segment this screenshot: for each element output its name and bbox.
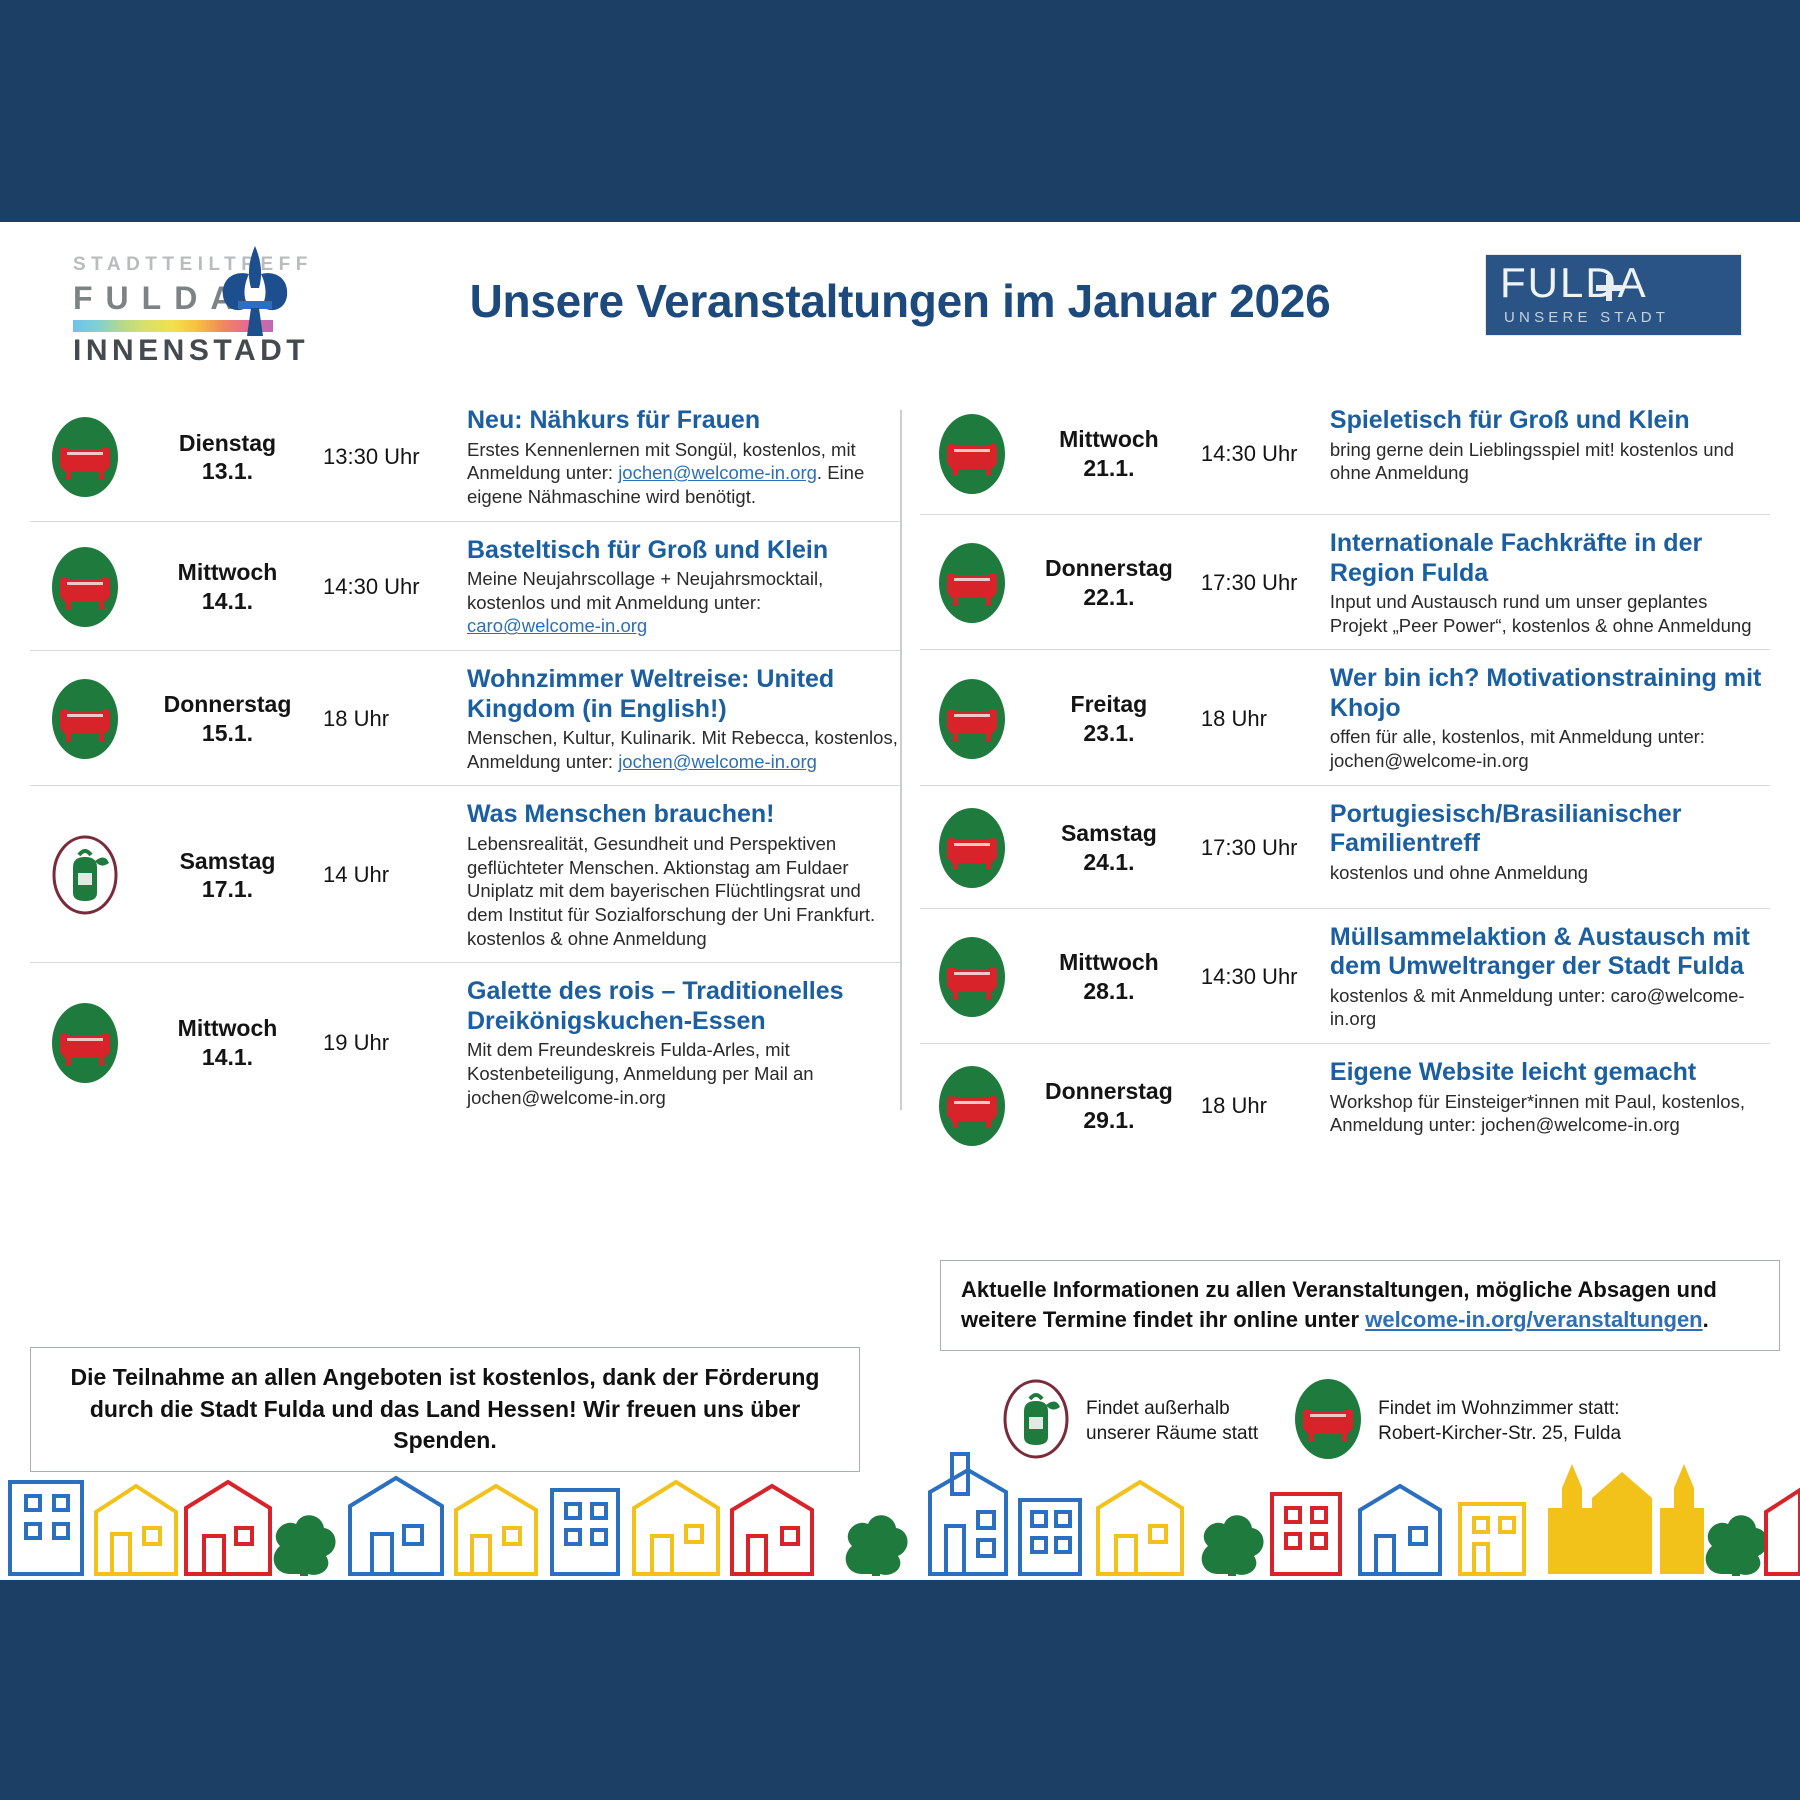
event-time: 13:30 Uhr <box>315 444 463 470</box>
event-title: Portugiesisch/Brasilianischer Familientr… <box>1330 800 1770 859</box>
event-title: Was Menschen brauchen! <box>467 800 900 830</box>
event-date: 29.1. <box>1083 1107 1134 1133</box>
event-title: Galette des rois – Traditionelles Dreikö… <box>467 977 900 1036</box>
bottom-band <box>0 1580 1800 1800</box>
event-day: Donnerstag29.1. <box>1025 1077 1193 1135</box>
event-date: 15.1. <box>202 720 253 746</box>
event-row: Mittwoch28.1.14:30 UhrMüllsammelaktion &… <box>920 909 1770 1044</box>
poster: STADTTEILTREFF FULDA INNENSTADT Unsere V… <box>0 222 1800 1580</box>
event-row: Donnerstag15.1.18 UhrWohnzimmer Weltreis… <box>30 651 900 786</box>
event-location-icon <box>920 935 1025 1019</box>
event-date: 23.1. <box>1083 720 1134 746</box>
event-weekday: Mittwoch <box>1059 426 1159 452</box>
event-body: Neu: Nähkurs für FrauenErstes Kennenlern… <box>463 406 900 509</box>
event-location-icon <box>30 833 140 917</box>
event-description: Mit dem Freundeskreis Fulda-Arles, mit K… <box>467 1038 900 1109</box>
skyline-illustration <box>0 1450 1800 1580</box>
event-row: Dienstag13.1.13:30 UhrNeu: Nähkurs für F… <box>30 392 900 522</box>
legend-line-2: unserer Räume statt <box>1086 1423 1258 1444</box>
sofa-icon <box>936 541 1008 625</box>
outside-icon <box>49 833 121 917</box>
event-location-icon <box>920 677 1025 761</box>
event-description: Input und Austausch rund um unser geplan… <box>1330 590 1770 637</box>
event-title: Basteltisch für Groß und Klein <box>467 536 900 566</box>
event-description: Menschen, Kultur, Kulinarik. Mit Rebecca… <box>467 726 900 773</box>
event-row: Donnerstag29.1.18 UhrEigene Website leic… <box>920 1044 1770 1166</box>
event-row: Samstag24.1.17:30 UhrPortugiesisch/Brasi… <box>920 786 1770 909</box>
events-column-left: Dienstag13.1.13:30 UhrNeu: Nähkurs für F… <box>30 392 900 1166</box>
event-day: Donnerstag22.1. <box>1025 554 1193 612</box>
poster-header: STADTTEILTREFF FULDA INNENSTADT Unsere V… <box>0 222 1800 392</box>
sofa-icon <box>936 412 1008 496</box>
event-weekday: Mittwoch <box>178 1015 278 1041</box>
sofa-icon <box>49 677 121 761</box>
event-email-link[interactable]: jochen@welcome-in.org <box>618 462 817 483</box>
event-email-link[interactable]: jochen@welcome-in.org <box>618 751 817 772</box>
event-row: Mittwoch14.1.19 UhrGalette des rois – Tr… <box>30 963 900 1121</box>
event-location-icon <box>920 806 1025 890</box>
event-body: Wohnzimmer Weltreise: United Kingdom (in… <box>463 665 900 773</box>
event-title: Wohnzimmer Weltreise: United Kingdom (in… <box>467 665 900 724</box>
event-row: Mittwoch14.1.14:30 UhrBasteltisch für Gr… <box>30 522 900 652</box>
event-title: Müllsammelaktion & Austausch mit dem Umw… <box>1330 923 1770 982</box>
online-info-post: . <box>1703 1307 1709 1332</box>
event-title: Internationale Fachkräfte in der Region … <box>1330 529 1770 588</box>
event-description: kostenlos & mit Anmeldung unter: caro@we… <box>1330 984 1770 1031</box>
event-date: 14.1. <box>202 588 253 614</box>
event-body: Wer bin ich? Motivationstraining mit Kho… <box>1326 664 1770 772</box>
event-title: Neu: Nähkurs für Frauen <box>467 406 900 436</box>
event-time: 14:30 Uhr <box>1193 964 1326 990</box>
sofa-icon <box>936 1064 1008 1148</box>
events-column-right: Mittwoch21.1.14:30 UhrSpieletisch für Gr… <box>920 392 1770 1166</box>
fulda-cross-icon <box>1596 275 1622 301</box>
event-body: Galette des rois – Traditionelles Dreikö… <box>463 977 900 1109</box>
event-title: Eigene Website leicht gemacht <box>1330 1058 1770 1088</box>
event-time: 14 Uhr <box>315 862 463 888</box>
fulda-tagline: UNSERE STADT <box>1504 309 1669 326</box>
event-time: 18 Uhr <box>315 706 463 732</box>
event-row: Donnerstag22.1.17:30 UhrInternationale F… <box>920 515 1770 650</box>
event-day: Mittwoch28.1. <box>1025 948 1193 1006</box>
sofa-icon <box>49 1001 121 1085</box>
event-description: bring gerne dein Lieblingsspiel mit! kos… <box>1330 438 1770 485</box>
event-date: 14.1. <box>202 1044 253 1070</box>
event-body: Basteltisch für Groß und KleinMeine Neuj… <box>463 536 900 639</box>
legend-line-1: Findet im Wohnzimmer statt: <box>1378 1398 1619 1419</box>
event-date: 24.1. <box>1083 849 1134 875</box>
event-body: Internationale Fachkräfte in der Region … <box>1326 529 1770 637</box>
event-day: Dienstag13.1. <box>140 429 315 487</box>
event-description: offen für alle, kostenlos, mit Anmeldung… <box>1330 725 1770 772</box>
sofa-icon <box>1292 1377 1364 1461</box>
sofa-icon <box>936 677 1008 761</box>
event-email-link[interactable]: caro@welcome-in.org <box>467 615 647 636</box>
event-time: 14:30 Uhr <box>315 574 463 600</box>
event-row: Freitag23.1.18 UhrWer bin ich? Motivatio… <box>920 650 1770 785</box>
sofa-icon <box>936 806 1008 890</box>
event-weekday: Samstag <box>1061 820 1157 846</box>
event-location-icon <box>30 415 140 499</box>
event-location-icon <box>920 541 1025 625</box>
event-location-icon <box>920 1064 1025 1148</box>
event-title: Wer bin ich? Motivationstraining mit Kho… <box>1330 664 1770 723</box>
event-body: Spieletisch für Groß und Kleinbring gern… <box>1326 406 1770 485</box>
event-location-icon <box>30 677 140 761</box>
event-description: Lebensrealität, Gesundheit und Perspekti… <box>467 832 900 950</box>
legend-text: Findet außerhalbunserer Räume statt <box>1086 1397 1258 1446</box>
event-description: Meine Neujahrscollage + Neujahrsmocktail… <box>467 567 900 638</box>
event-time: 18 Uhr <box>1193 1093 1326 1119</box>
column-divider <box>900 410 902 1110</box>
event-location-icon <box>920 412 1025 496</box>
online-info-note: Aktuelle Informationen zu allen Veransta… <box>940 1260 1780 1351</box>
event-day: Freitag23.1. <box>1025 690 1193 748</box>
event-body: Eigene Website leicht gemachtWorkshop fü… <box>1326 1058 1770 1137</box>
veranstaltungen-link[interactable]: welcome-in.org/veranstaltungen <box>1365 1307 1702 1332</box>
event-location-icon <box>30 545 140 629</box>
event-date: 13.1. <box>202 458 253 484</box>
fulda-city-logo: FULDA UNSERE STADT <box>1485 254 1742 336</box>
event-time: 17:30 Uhr <box>1193 570 1326 596</box>
event-description: kostenlos und ohne Anmeldung <box>1330 861 1770 885</box>
top-band <box>0 0 1800 222</box>
event-time: 17:30 Uhr <box>1193 835 1326 861</box>
event-date: 21.1. <box>1083 455 1134 481</box>
event-time: 19 Uhr <box>315 1030 463 1056</box>
funding-note-text: Die Teilnahme an allen Angeboten ist kos… <box>71 1364 820 1453</box>
legend-text: Findet im Wohnzimmer statt:Robert-Kirche… <box>1378 1397 1621 1446</box>
sofa-icon <box>49 415 121 499</box>
sofa-icon <box>49 545 121 629</box>
event-date: 22.1. <box>1083 584 1134 610</box>
event-day: Donnerstag15.1. <box>140 690 315 748</box>
event-weekday: Samstag <box>180 848 276 874</box>
event-location-icon <box>30 1001 140 1085</box>
event-day: Samstag17.1. <box>140 847 315 905</box>
event-date: 17.1. <box>202 876 253 902</box>
event-weekday: Donnerstag <box>164 691 292 717</box>
event-date: 28.1. <box>1083 978 1134 1004</box>
event-time: 18 Uhr <box>1193 706 1326 732</box>
outside-icon <box>1000 1377 1072 1461</box>
event-day: Mittwoch21.1. <box>1025 425 1193 483</box>
event-weekday: Mittwoch <box>178 559 278 585</box>
event-description: Erstes Kennenlernen mit Songül, kostenlo… <box>467 438 900 509</box>
event-day: Mittwoch14.1. <box>140 1014 315 1072</box>
sofa-icon <box>936 935 1008 1019</box>
legend-line-1: Findet außerhalb <box>1086 1398 1230 1419</box>
event-day: Mittwoch14.1. <box>140 558 315 616</box>
event-weekday: Dienstag <box>179 430 276 456</box>
event-body: Müllsammelaktion & Austausch mit dem Umw… <box>1326 923 1770 1031</box>
event-body: Portugiesisch/Brasilianischer Familientr… <box>1326 800 1770 885</box>
event-row: Mittwoch21.1.14:30 UhrSpieletisch für Gr… <box>920 392 1770 515</box>
legend-line-2: Robert-Kircher-Str. 25, Fulda <box>1378 1423 1621 1444</box>
event-body: Was Menschen brauchen!Lebensrealität, Ge… <box>463 800 900 950</box>
event-weekday: Mittwoch <box>1059 949 1159 975</box>
logo-line-innenstadt: INNENSTADT <box>73 334 309 368</box>
event-weekday: Donnerstag <box>1045 1078 1173 1104</box>
event-description: Workshop für Einsteiger*innen mit Paul, … <box>1330 1090 1770 1137</box>
event-day: Samstag24.1. <box>1025 819 1193 877</box>
event-weekday: Donnerstag <box>1045 555 1173 581</box>
event-weekday: Freitag <box>1071 691 1148 717</box>
event-title: Spieletisch für Groß und Klein <box>1330 406 1770 436</box>
event-time: 14:30 Uhr <box>1193 441 1326 467</box>
event-row: Samstag17.1.14 UhrWas Menschen brauchen!… <box>30 786 900 963</box>
fulda-wordmark: FULDA <box>1500 259 1648 307</box>
